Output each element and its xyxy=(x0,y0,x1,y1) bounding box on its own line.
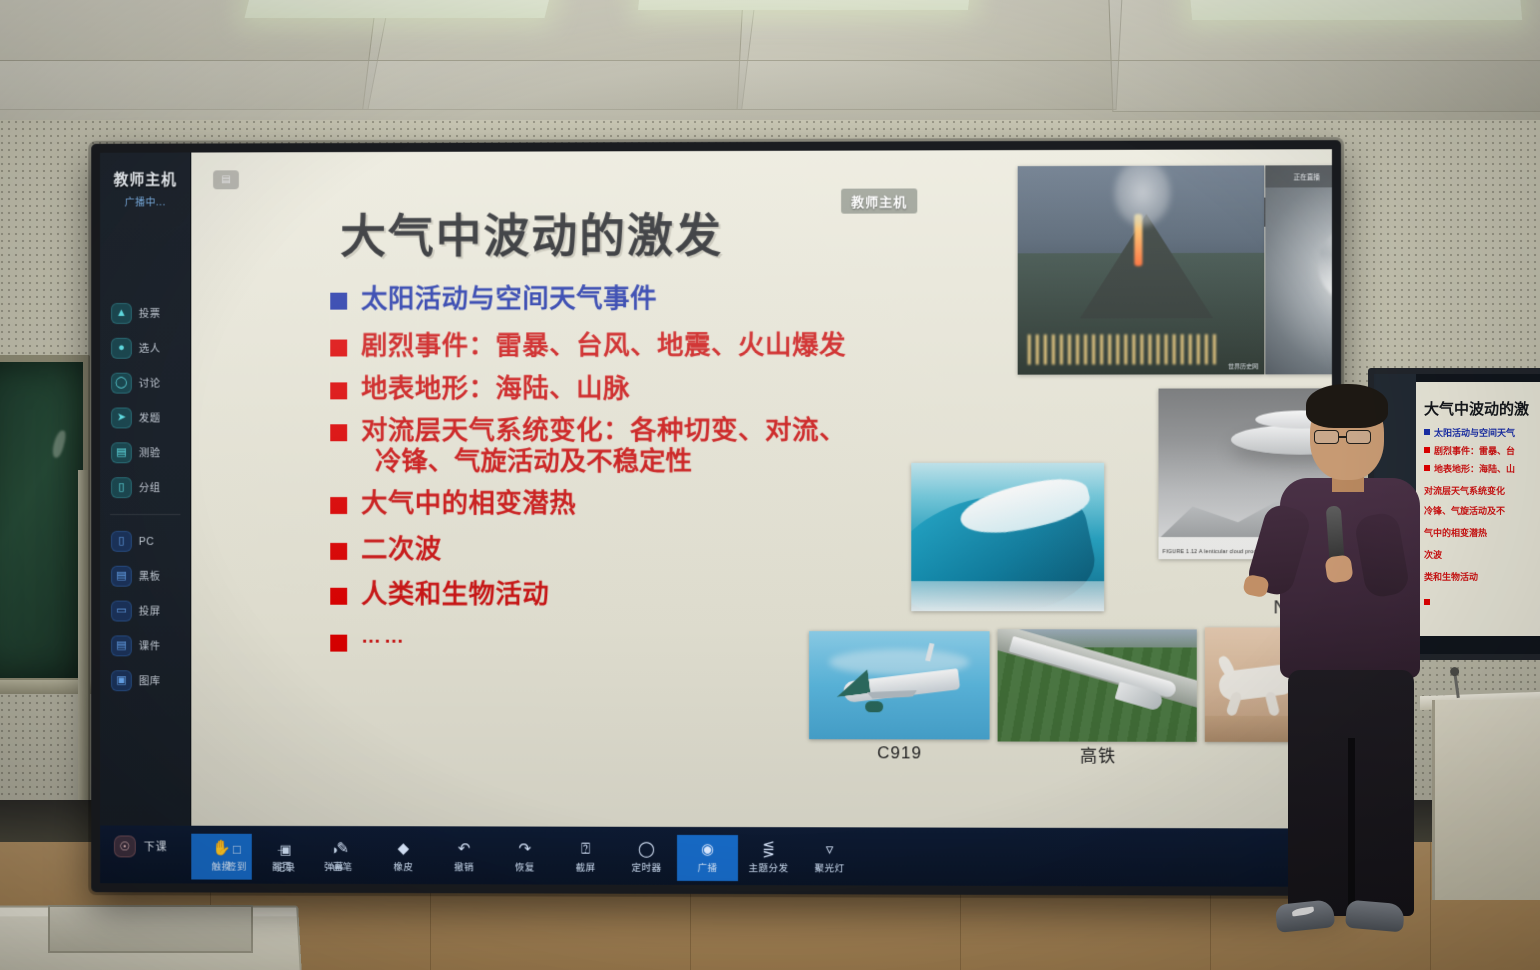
rail-item-group[interactable]: ▯ 分组 xyxy=(100,470,190,505)
bullet-item: 地表地形：海陆、山脉 xyxy=(330,372,989,404)
bullet-text: 地表地形：海陆、山脉 xyxy=(361,373,630,404)
bullet-item: 太阳活动与空间天气事件 xyxy=(330,282,989,314)
rail-item-label: 投屏 xyxy=(139,604,161,619)
rail-divider xyxy=(110,514,180,515)
bell-icon: ☉ xyxy=(114,835,136,857)
quiz-icon: ▤ xyxy=(111,442,132,463)
toolbar-item-eraser[interactable]: ◆ 橡皮 xyxy=(373,834,434,880)
bullet-marker-icon xyxy=(330,340,347,357)
rail-item-label: 选人 xyxy=(139,341,161,356)
host-chip: 教师主机 xyxy=(841,188,917,213)
rail-item-label: 发题 xyxy=(139,410,161,425)
bullet-marker-icon xyxy=(330,424,347,441)
send-question-icon: ➤ xyxy=(111,408,132,429)
volcano-eruption-photo: 世界历史网 xyxy=(1018,165,1265,374)
ceiling-light-right xyxy=(1188,0,1522,20)
quick-action-record[interactable]: ▣ 记录 xyxy=(276,842,296,874)
rail-title: 教师主机 xyxy=(100,168,190,189)
person-pick-icon: ● xyxy=(111,338,132,359)
rail-item-send-question[interactable]: ➤ 发题 xyxy=(100,400,190,435)
ceiling-light-center xyxy=(638,0,972,10)
toolbar-item-label: 橡皮 xyxy=(393,859,413,873)
toolbar-item-label: 定时器 xyxy=(632,860,662,874)
bullet-marker-icon xyxy=(330,382,347,399)
timer-icon: ◯ xyxy=(638,842,655,857)
bullet-text: …… xyxy=(361,626,407,650)
ceiling xyxy=(0,0,1540,135)
rail-item-label: 课件 xyxy=(139,638,161,653)
bullet-item: 剧烈事件：雷暴、台风、地震、火山爆发 xyxy=(330,330,989,362)
cabinet-monitor xyxy=(48,905,253,953)
toolbar-item-label: 恢复 xyxy=(515,859,535,873)
rail-item-label: PC xyxy=(139,535,154,547)
screenshot-icon: ⍰ xyxy=(581,842,590,857)
rail-item-label: 讨论 xyxy=(139,376,161,391)
toolbar-item-label: 截屏 xyxy=(576,860,596,874)
toolbar-item-spotlight[interactable]: ▿ 聚光灯 xyxy=(799,835,860,881)
ocean-wave-photo xyxy=(911,463,1104,611)
pc-icon: ▯ xyxy=(111,531,132,552)
typhoon-watermark: 正在直播 xyxy=(1294,171,1320,181)
toolbar-item-share-topic[interactable]: ⋚ 主题分发 xyxy=(738,835,799,881)
gallery-icon: ▣ xyxy=(111,670,132,691)
rail-item-person-pick[interactable]: ● 选人 xyxy=(100,331,190,366)
rail-item-label: 测验 xyxy=(139,445,161,460)
rail-item-pc[interactable]: ▯ PC xyxy=(100,524,190,559)
c919-aircraft-photo xyxy=(809,631,990,739)
rail-item-gallery[interactable]: ▣ 图库 xyxy=(100,663,190,698)
quick-action-label: 签到 xyxy=(227,859,247,873)
bullet-text: 太阳活动与空间天气事件 xyxy=(361,283,657,315)
quick-actions: □ 签到 ▣ 记录 ◑ 弹幕 xyxy=(227,842,344,874)
rail-item-vote[interactable]: ▲ 投票 xyxy=(100,296,190,331)
bullet-text: 二次波 xyxy=(361,534,442,565)
record-icon: ▣ xyxy=(279,842,291,858)
rail-item-label: 黑板 xyxy=(139,569,161,584)
cast-screen-icon: ▭ xyxy=(111,601,132,622)
bullet-marker-icon xyxy=(330,497,347,514)
bullet-item: 对流层天气系统变化：各种切变、对流、 xyxy=(330,415,989,447)
bullet-marker-icon xyxy=(330,635,347,652)
eraser-icon: ◆ xyxy=(398,841,409,856)
toolbar-item-broadcast[interactable]: ◉ 广播 xyxy=(677,835,738,881)
toolbar-item-undo[interactable]: ↶ 撤销 xyxy=(434,834,495,880)
quick-action-label: 弹幕 xyxy=(324,859,344,873)
side-rail[interactable]: 教师主机 广播中... ▲ 投票 ● 选人 ◯ 讨论 xyxy=(100,153,191,884)
discussion-icon: ◯ xyxy=(111,373,132,394)
bullet-marker-icon xyxy=(330,293,347,310)
bullet-item: 人类和生物活动 xyxy=(330,579,989,611)
presenter xyxy=(1248,378,1458,970)
rail-group-teaching: ▲ 投票 ● 选人 ◯ 讨论 ➤ 发题 xyxy=(100,296,190,505)
toolbar-item-label: 聚光灯 xyxy=(815,860,845,874)
courseware-icon: ▤ xyxy=(111,635,132,656)
toolbar-item-label: 撤销 xyxy=(454,859,474,873)
high-speed-rail-photo xyxy=(998,629,1197,742)
chalkboard xyxy=(0,355,90,685)
slide-title: 大气中波动的激发 xyxy=(340,199,723,266)
glasses-icon xyxy=(1346,430,1371,444)
classroom-scene: 大气中波动的激 太阳活动与空间天气 剧烈事件：雷暴、台 地表地形：海陆、山 对流… xyxy=(0,0,1540,970)
toolbar-item-timer[interactable]: ◯ 定时器 xyxy=(616,835,677,881)
vote-icon: ▲ xyxy=(111,303,132,324)
rail-item-cast-screen[interactable]: ▭ 投屏 xyxy=(100,594,190,629)
train-caption: 高铁 xyxy=(1080,742,1116,767)
blackboard-icon: ▤ xyxy=(111,566,132,587)
quick-action-check-in[interactable]: □ 签到 xyxy=(227,842,247,874)
rail-item-quiz[interactable]: ▤ 测验 xyxy=(100,435,190,470)
bullet-text: 对流层天气系统变化：各种切变、对流、 xyxy=(361,415,846,447)
rail-item-label: 图库 xyxy=(139,673,161,688)
quick-action-label: 记录 xyxy=(276,860,296,874)
bullet-text: 剧烈事件：雷暴、台风、地震、火山爆发 xyxy=(361,330,846,362)
ceiling-light-left xyxy=(245,0,556,18)
toolbar-item-label: 广播 xyxy=(697,860,717,874)
rail-item-blackboard[interactable]: ▤ 黑板 xyxy=(100,559,190,594)
interactive-flat-panel[interactable]: 教师主机 广播中... ▲ 投票 ● 选人 ◯ 讨论 xyxy=(91,140,1341,896)
bullet-item: 大气中的相变潜热 xyxy=(330,488,989,519)
end-class-label: 下课 xyxy=(144,839,168,855)
toolbar-item-redo[interactable]: ↷ 恢复 xyxy=(494,834,555,880)
redo-icon: ↷ xyxy=(519,841,532,856)
bullet-marker-icon xyxy=(330,543,347,560)
quick-action-danmaku[interactable]: ◑ 弹幕 xyxy=(324,842,344,874)
rail-group-source: ▯ PC ▤ 黑板 ▭ 投屏 ▤ 课件 xyxy=(100,524,190,698)
group-icon: ▯ xyxy=(111,477,132,498)
broadcast-icon: ◉ xyxy=(701,842,714,857)
typhoon-satellite-photo: 正在直播 xyxy=(1265,165,1332,374)
aircraft-caption: C919 xyxy=(877,743,922,763)
bullet-marker-icon xyxy=(330,588,347,605)
volcano-watermark: 世界历史网 xyxy=(1228,361,1258,370)
bullet-item: 二次波 xyxy=(330,534,989,565)
end-class-button[interactable]: ☉ 下课 xyxy=(114,835,167,857)
glasses-icon xyxy=(1314,430,1339,444)
slide-source-icon: ▤ xyxy=(213,170,239,189)
bullet-continuation: 冷锋、气旋活动及不稳定性 xyxy=(375,446,990,478)
danmaku-icon: ◑ xyxy=(330,842,338,857)
rail-item-label: 分组 xyxy=(139,480,161,495)
slide-bullet-list: 太阳活动与空间天气事件 剧烈事件：雷暴、台风、地震、火山爆发 地表地形：海陆、山… xyxy=(330,282,989,663)
rail-item-discussion[interactable]: ◯ 讨论 xyxy=(100,366,190,401)
slide-canvas[interactable]: ▤ 教师主机 IP地址: 192.168.9.3:8888 验证码: 2914 … xyxy=(191,149,1332,828)
check-in-icon: □ xyxy=(233,842,241,857)
share-topic-icon: ⋚ xyxy=(762,842,775,857)
rail-status: 广播中... xyxy=(100,193,190,208)
rail-item-courseware[interactable]: ▤ 课件 xyxy=(100,628,190,663)
toolbar-item-label: 主题分发 xyxy=(748,860,788,874)
rail-item-label: 投票 xyxy=(139,306,161,321)
toolbar-item-screenshot[interactable]: ⍰ 截屏 xyxy=(555,835,616,881)
bullet-text: 人类和生物活动 xyxy=(361,579,549,610)
spotlight-icon: ▿ xyxy=(826,842,834,857)
undo-icon: ↶ xyxy=(458,841,471,856)
bullet-text: 大气中的相变潜热 xyxy=(361,488,576,519)
